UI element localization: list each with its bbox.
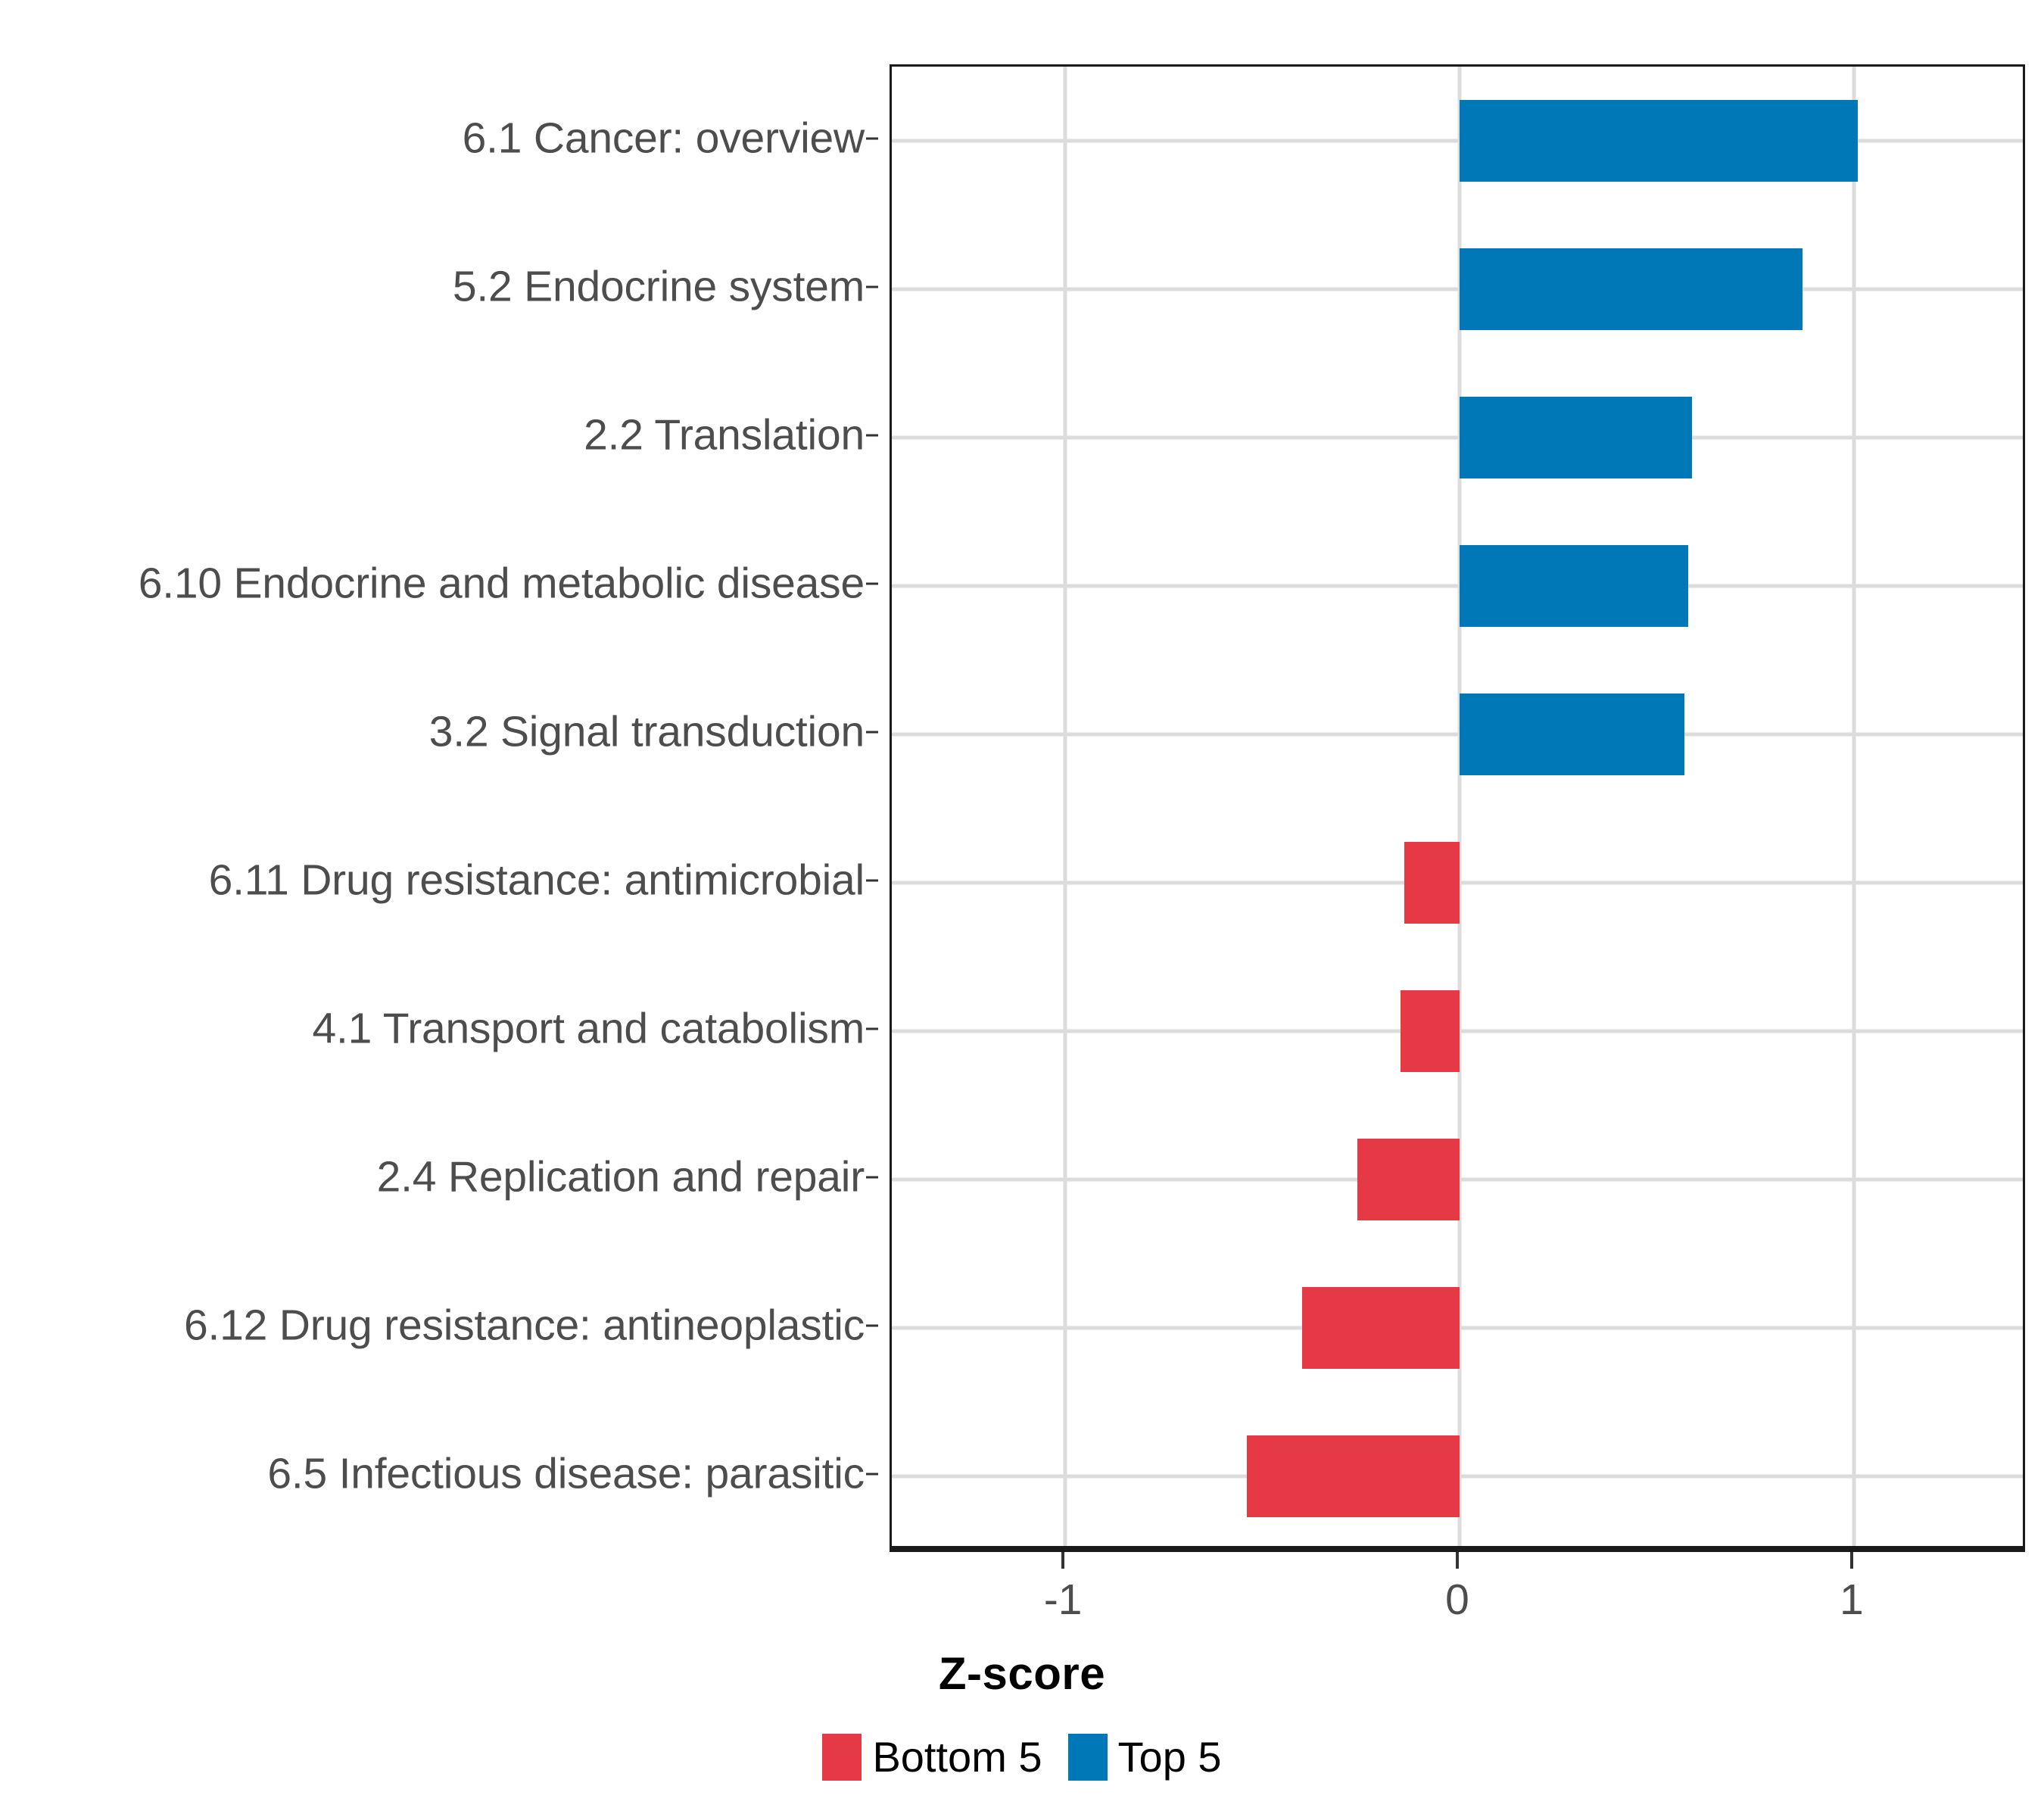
bar	[1460, 693, 1684, 775]
y-axis-labels: 6.1 Cancer: overview5.2 Endocrine system…	[0, 64, 878, 1548]
y-axis-tick-mark	[866, 1028, 878, 1030]
x-axis-tick-mark	[1456, 1552, 1459, 1569]
bar	[1247, 1435, 1460, 1517]
x-axis-title-text: Z-score	[939, 1647, 1105, 1700]
y-axis-tick-label: 6.12 Drug resistance: antineoplastic	[184, 1304, 865, 1348]
y-axis-tick-label: 5.2 Endocrine system	[453, 266, 865, 309]
y-axis-tick-mark	[866, 435, 878, 437]
vertical-gridline	[1064, 67, 1067, 1546]
x-axis-tick-mark	[1061, 1552, 1064, 1569]
plot-panel	[890, 64, 2025, 1548]
bar	[1460, 100, 1858, 182]
y-axis-tick-label: 6.5 Infectious disease: parasitic	[267, 1453, 865, 1496]
bar	[1401, 990, 1460, 1072]
y-axis-tick-mark	[866, 880, 878, 882]
legend-label: Top 5	[1118, 1734, 1222, 1780]
chart-legend: Bottom 5Top 5	[0, 1734, 2044, 1781]
y-axis-tick-mark	[866, 286, 878, 288]
y-axis-tick-label: 6.1 Cancer: overview	[463, 117, 865, 161]
bar	[1404, 842, 1460, 924]
x-axis-tick-label: 1	[1840, 1576, 1864, 1623]
bar	[1460, 397, 1692, 478]
legend-item[interactable]: Top 5	[1068, 1734, 1222, 1781]
bar	[1460, 248, 1803, 330]
bar	[1357, 1139, 1460, 1220]
bar-chart: 6.1 Cancer: overview5.2 Endocrine system…	[0, 0, 2044, 1817]
bar	[1302, 1287, 1460, 1369]
x-axis-tick-label: -1	[1044, 1576, 1083, 1623]
vertical-gridline	[1852, 67, 1855, 1546]
y-axis-tick-mark	[866, 138, 878, 140]
y-axis-tick-mark	[866, 1177, 878, 1179]
y-axis-tick-mark	[866, 1473, 878, 1476]
y-axis-tick-label: 6.10 Endocrine and metabolic disease	[139, 563, 865, 606]
y-axis-tick-mark	[866, 731, 878, 734]
x-axis-tick-label: 0	[1445, 1576, 1469, 1623]
x-axis-tick-mark	[1850, 1552, 1853, 1569]
legend-swatch-icon	[822, 1734, 862, 1781]
y-axis-tick-label: 2.2 Translation	[584, 414, 865, 457]
legend-item[interactable]: Bottom 5	[822, 1734, 1042, 1781]
legend-swatch-icon	[1068, 1734, 1108, 1781]
y-axis-tick-mark	[866, 1325, 878, 1327]
legend-label: Bottom 5	[872, 1734, 1042, 1780]
y-axis-tick-label: 6.11 Drug resistance: antimicrobial	[209, 859, 865, 902]
y-axis-tick-label: 3.2 Signal transduction	[429, 711, 865, 754]
y-axis-tick-label: 2.4 Replication and repair	[377, 1156, 865, 1199]
x-axis-title: Z-score	[0, 1647, 2044, 1700]
y-axis-tick-mark	[866, 583, 878, 585]
bar	[1460, 545, 1688, 627]
y-axis-tick-label: 4.1 Transport and catabolism	[313, 1008, 865, 1051]
